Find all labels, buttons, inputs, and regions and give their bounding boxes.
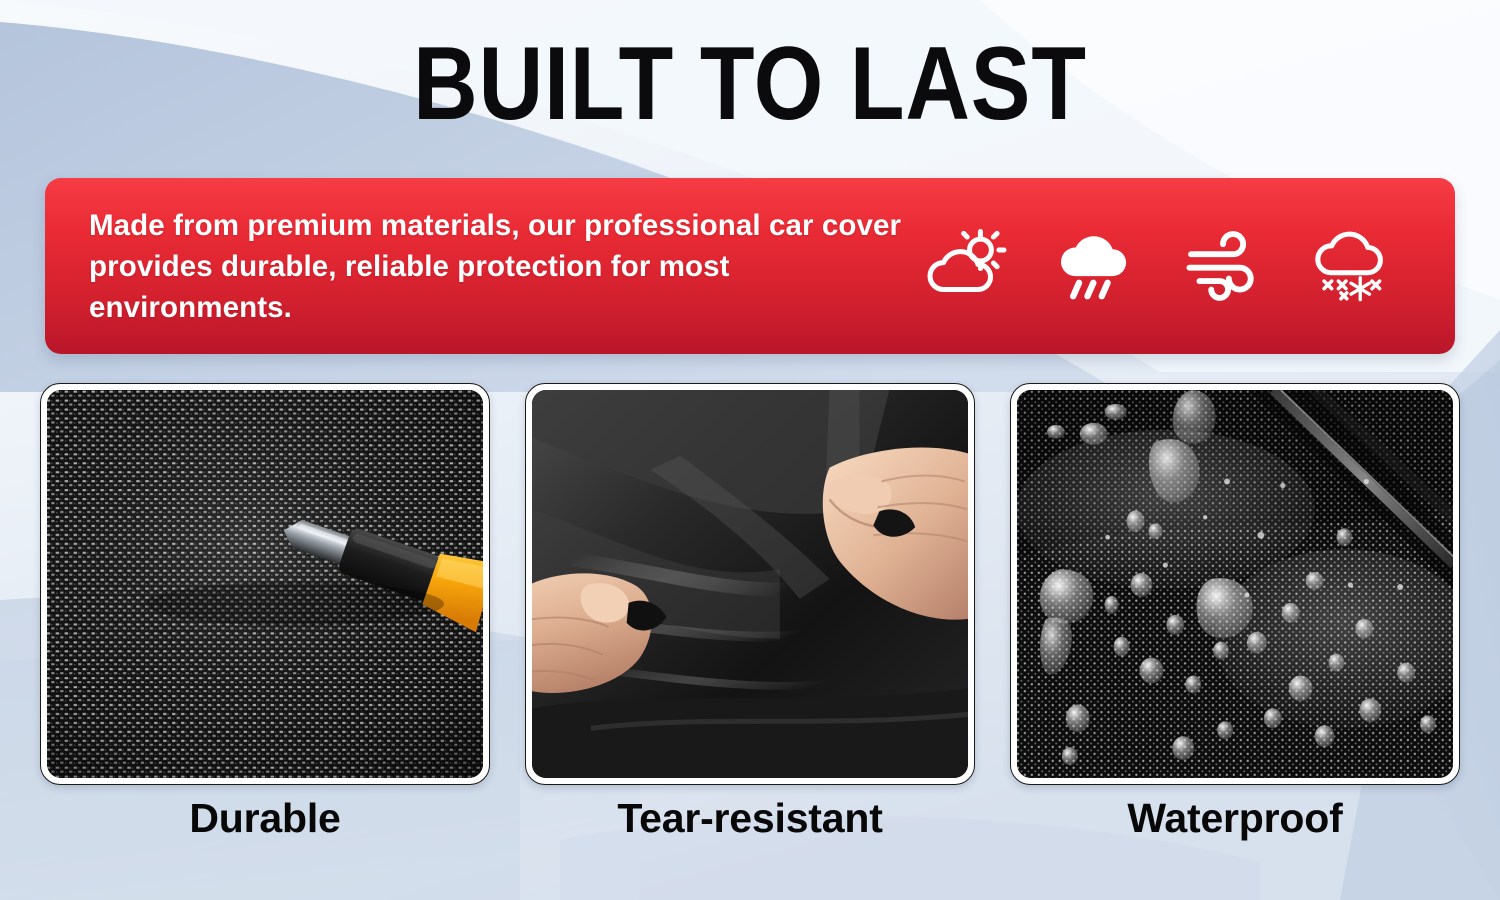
water-droplets-illustration — [1017, 390, 1453, 778]
feature-caption-row: Durable Tear-resistant Waterproof — [40, 788, 1460, 858]
feature-panel-row — [40, 383, 1460, 785]
rain-cloud-icon — [1053, 224, 1137, 308]
feature-panel-waterproof[interactable] — [1010, 383, 1460, 785]
water-beading-on-fabric-photo — [1017, 390, 1453, 778]
caption-waterproof: Waterproof — [1010, 788, 1460, 858]
weather-icon-group — [925, 224, 1421, 308]
stretched-material-illustration — [532, 390, 968, 778]
feature-panel-tear-resistant[interactable] — [525, 383, 975, 785]
snow-cloud-icon — [1309, 224, 1393, 308]
promo-banner: Made from premium materials, our profess… — [45, 178, 1455, 354]
screwdriver-on-woven-fabric-photo — [47, 390, 483, 778]
sun-behind-cloud-icon — [925, 224, 1009, 308]
woven-fabric-illustration — [47, 390, 483, 778]
caption-tear-resistant: Tear-resistant — [525, 788, 975, 858]
wind-icon — [1181, 224, 1265, 308]
infographic-root: BUILT TO LAST Made from premium material… — [0, 0, 1500, 900]
banner-description: Made from premium materials, our profess… — [89, 205, 925, 328]
caption-durable: Durable — [40, 788, 490, 858]
hands-stretching-black-material-photo — [532, 390, 968, 778]
page-title: BUILT TO LAST — [105, 24, 1395, 144]
feature-panel-durable[interactable] — [40, 383, 490, 785]
